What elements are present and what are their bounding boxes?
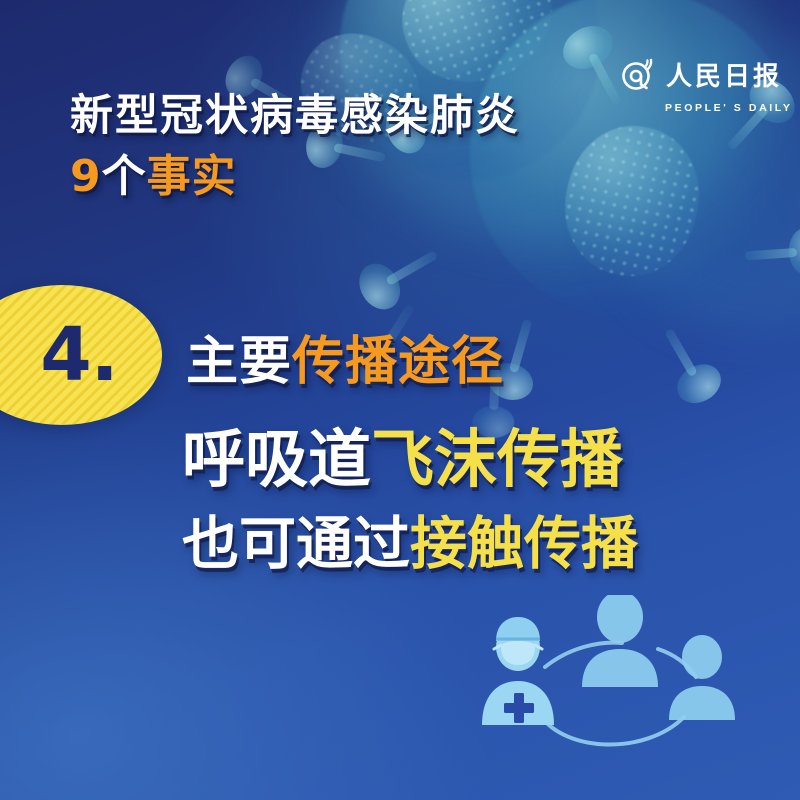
at-sign-with-soundwave-icon	[619, 57, 659, 97]
virus-core-secondary	[340, 0, 600, 180]
subtitle-tail: 事实	[147, 151, 237, 202]
logo-name-cn: 人民日报	[666, 64, 782, 90]
logo-name-en: PEOPLE' S DAILY	[665, 102, 784, 114]
page-subtitle: 9个事实	[70, 155, 237, 199]
item-number: 4.	[40, 318, 118, 392]
virus-core-main	[470, 0, 800, 320]
person-silhouette-icon	[669, 635, 735, 720]
statement-line-1-white: 主要	[186, 332, 292, 392]
peoples-daily-logo: 人民日报 PEOPLE' S DAILY	[619, 57, 784, 115]
statement-line-2: 呼吸道飞沫传播	[182, 428, 623, 491]
item-number-badge: 4.	[0, 285, 162, 425]
statement-line-3-white: 也可通过	[182, 511, 410, 577]
statement-line-3-highlight: 接触传播	[410, 511, 638, 577]
doctor-with-mask-and-cap-icon	[482, 617, 554, 725]
three-people-transmission-diagram	[470, 595, 770, 785]
page-title: 新型冠状病毒感染肺炎	[70, 95, 520, 138]
subtitle-measure-word: 个	[102, 151, 147, 202]
person-silhouette-icon	[582, 595, 658, 687]
virus-spike	[743, 221, 800, 284]
statement-line-3: 也可通过接触传播	[182, 516, 638, 573]
virus-spike	[644, 316, 732, 413]
virus-spike	[348, 228, 451, 322]
virus-membrane-patch-2	[552, 114, 712, 288]
virus-membrane-patch-1	[386, 0, 568, 100]
statement-line-2-highlight: 飞沫传播	[371, 423, 623, 496]
poster-canvas: 人民日报 PEOPLE' S DAILY 新型冠状病毒感染肺炎 9个事实 4. …	[0, 0, 800, 800]
statement-line-1-highlight: 传播途径	[292, 332, 504, 392]
statement-line-2-white: 呼吸道	[182, 423, 371, 496]
statement-line-1: 主要传播途径	[186, 336, 504, 388]
subtitle-number: 9	[70, 151, 102, 202]
